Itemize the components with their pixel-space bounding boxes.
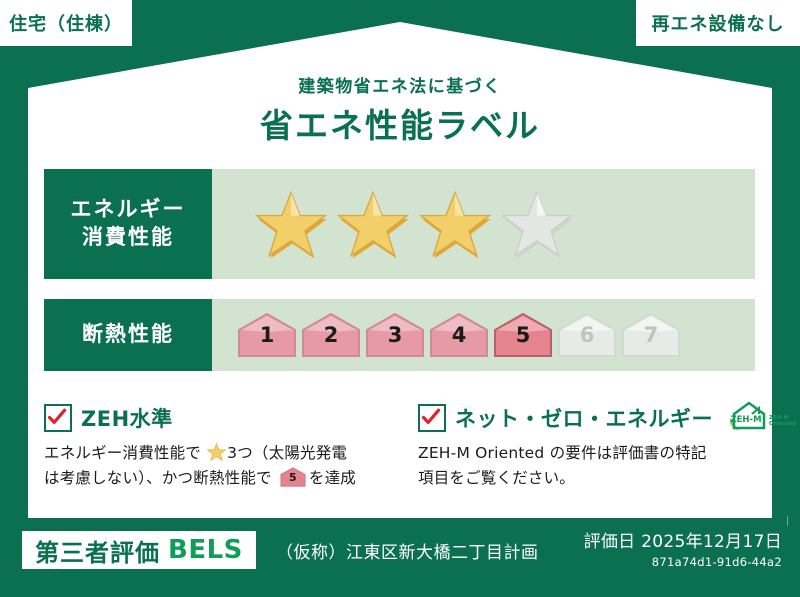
criterion-zeh-body-part3: は考慮しない）、かつ断熱性能で <box>44 469 272 487</box>
criterion-net-zero-energy: ネット・ゼロ・エネルギー ZEH-M ZEH-M Oriented ZEH-M … <box>418 404 770 491</box>
star-icon-inline <box>207 443 226 461</box>
criterion-zeh-body-part4: を達成 <box>309 469 356 487</box>
star-icon-filled <box>418 189 492 259</box>
rating-row-insulation: 断熱性能 1234567 <box>44 299 755 371</box>
criterion-zeh-title: ZEH水準 <box>81 403 173 433</box>
criterion-zeh-header: ZEH水準 <box>44 404 404 432</box>
bels-badge-jp-label: 第三者評価 <box>35 533 160 568</box>
insulation-level-marker-label-1: 1 <box>236 325 298 346</box>
zeh-m-logo-sub1: ZEH-M <box>769 415 789 421</box>
criterion-net-zero-energy-body-line1: ZEH-M Oriented の要件は評価書の特記 <box>418 444 707 462</box>
badge-building-type-label: 住宅（住棟） <box>9 10 123 36</box>
evaluation-info: 評価日 2025年12月17日 871a74d1-91d6-44a2 <box>584 527 782 569</box>
insulation-level-scale: 1234567 <box>212 311 682 359</box>
criterion-net-zero-energy-body: ZEH-M Oriented の要件は評価書の特記 項目をご覧ください。 <box>418 441 770 491</box>
bels-badge: 第三者評価 BELS <box>22 531 256 569</box>
house-icon-inline: 5 <box>280 467 306 487</box>
label-subtitle: 建築物省エネ法に基づく <box>0 72 800 97</box>
criterion-zeh-body: エネルギー消費性能で 3つ（太陽光発電 は考慮しない）、かつ断熱性能で 5 を達… <box>44 441 404 491</box>
rating-row-energy-label-line2: 消費性能 <box>82 224 174 252</box>
insulation-level-marker-label-4: 4 <box>428 325 490 346</box>
rating-row-energy-label: エネルギー 消費性能 <box>44 169 212 279</box>
criterion-zeh: ZEH水準 エネルギー消費性能で 3つ（太陽光発電 は考慮しない）、かつ断熱性能… <box>44 404 404 491</box>
insulation-level-marker-3: 3 <box>364 311 426 359</box>
criterion-net-zero-energy-body-line2: 項目をご覧ください。 <box>418 469 575 487</box>
zeh-m-logo-text: ZEH-M <box>730 415 761 425</box>
star-icon-filled <box>336 189 410 259</box>
badge-renewable-energy: 再エネ設備なし <box>636 0 800 46</box>
insulation-level-marker-7: 7 <box>620 311 682 359</box>
energy-performance-label: 住宅（住棟） 再エネ設備なし 建築物省エネ法に基づく 省エネ性能ラベル エネルギ… <box>0 0 800 597</box>
bels-badge-en-label: BELS <box>168 535 243 565</box>
insulation-level-marker-label-5: 5 <box>492 325 554 346</box>
evaluation-id: 871a74d1-91d6-44a2 <box>584 555 782 569</box>
insulation-level-marker-2: 2 <box>300 311 362 359</box>
building-name: （仮称）江東区新大橋二丁目計画 <box>276 538 539 563</box>
rating-row-insulation-value: 1234567 <box>212 299 755 371</box>
footer: 第三者評価 BELS （仮称）江東区新大橋二丁目計画 評価日 2025年12月1… <box>0 518 800 597</box>
rating-row-insulation-label-line1: 断熱性能 <box>82 321 174 349</box>
insulation-level-marker-4: 4 <box>428 311 490 359</box>
evaluation-date: 評価日 2025年12月17日 <box>584 527 782 552</box>
check-icon <box>47 407 67 427</box>
page-title: 省エネ性能ラベル <box>0 99 800 147</box>
rating-row-energy-value <box>212 169 755 279</box>
check-icon <box>421 407 441 427</box>
checkbox-zeh[interactable] <box>44 404 72 432</box>
criterion-zeh-body-part2: 3つ（太陽光発電 <box>227 444 347 462</box>
zeh-m-logo-sub2: Oriented <box>769 421 796 427</box>
star-icon-filled <box>254 189 328 259</box>
criterion-zeh-body-level: 5 <box>280 472 306 483</box>
star-rating <box>212 189 574 259</box>
badge-renewable-energy-label: 再エネ設備なし <box>652 10 785 36</box>
rating-row-energy: エネルギー 消費性能 <box>44 169 755 279</box>
insulation-level-marker-label-2: 2 <box>300 325 362 346</box>
zeh-m-logo-icon: ZEH-M ZEH-M Oriented <box>726 399 800 433</box>
badge-building-type: 住宅（住棟） <box>0 0 132 46</box>
criterion-net-zero-energy-title: ネット・ゼロ・エネルギー <box>455 403 713 433</box>
rating-row-energy-label-line1: エネルギー <box>71 196 186 224</box>
insulation-level-marker-label-7: 7 <box>620 325 682 346</box>
criterion-zeh-body-part1: エネルギー消費性能で <box>44 444 201 462</box>
checkbox-net-zero-energy[interactable] <box>418 404 446 432</box>
insulation-level-marker-6: 6 <box>556 311 618 359</box>
criterion-net-zero-energy-header: ネット・ゼロ・エネルギー ZEH-M ZEH-M Oriented <box>418 404 770 432</box>
insulation-level-marker-label-3: 3 <box>364 325 426 346</box>
star-icon-empty <box>500 189 574 259</box>
insulation-level-marker-1: 1 <box>236 311 298 359</box>
insulation-level-marker-label-6: 6 <box>556 325 618 346</box>
rating-row-insulation-label: 断熱性能 <box>44 299 212 371</box>
insulation-level-marker-5: 5 <box>492 311 554 359</box>
zeh-m-oriented-logo: ZEH-M ZEH-M Oriented <box>726 399 800 437</box>
footer-divider <box>787 516 788 526</box>
